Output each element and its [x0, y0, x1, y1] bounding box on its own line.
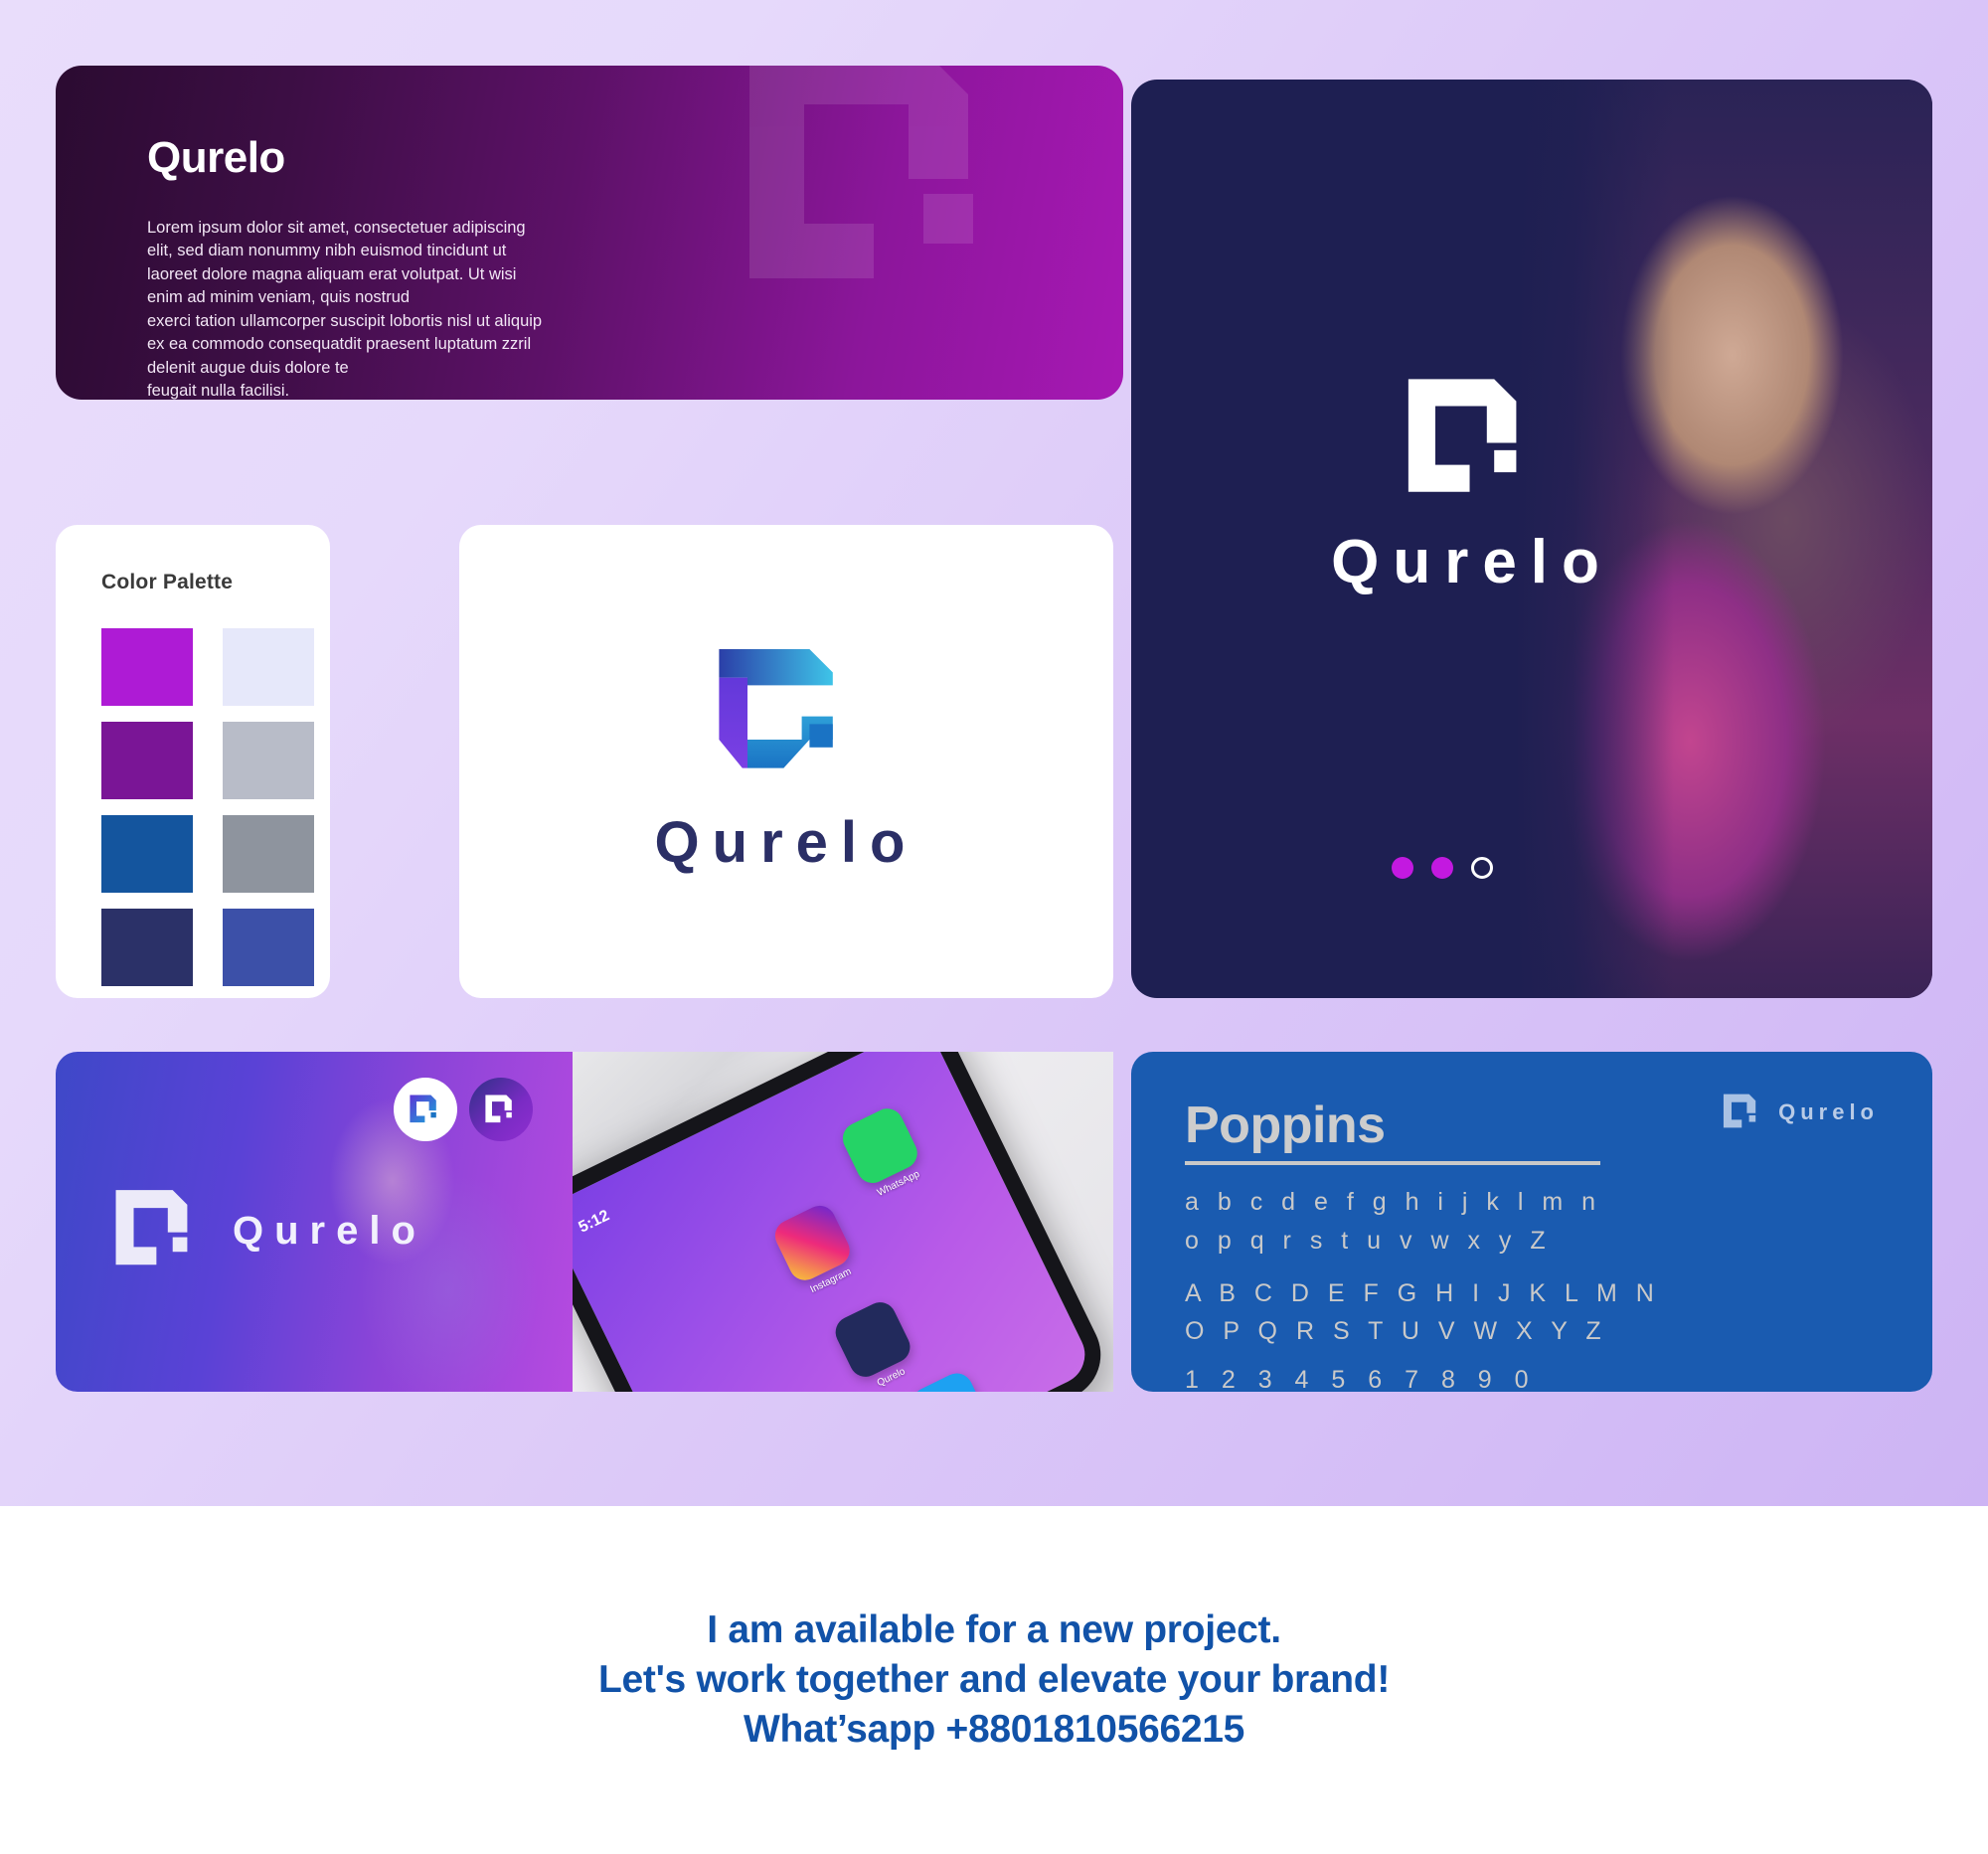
- qurelo-logo-watermark-icon: [730, 66, 1028, 298]
- typography-wordmark: Qurelo: [1778, 1099, 1879, 1125]
- typography-logo-lockup: Qurelo: [1721, 1094, 1879, 1131]
- qurelo-logo-badge-white-icon: [483, 1095, 519, 1125]
- app-icon-instagram[interactable]: Instagram: [770, 1201, 863, 1300]
- hero-title: Qurelo: [147, 133, 285, 183]
- cta-line-2: Let's work together and elevate your bra…: [598, 1658, 1390, 1702]
- color-swatch-slate-blue[interactable]: [223, 909, 314, 986]
- qurelo-logo-mark-tint-icon: [1721, 1094, 1764, 1131]
- logo-badge-light[interactable]: [394, 1078, 457, 1141]
- model-wordmark: Qurelo: [1331, 527, 1613, 597]
- hero-card: Qurelo Lorem ipsum dolor sit amet, conse…: [56, 66, 1123, 400]
- color-swatch-royal-blue[interactable]: [101, 815, 193, 893]
- logo-badges: [394, 1078, 533, 1141]
- logo-wordmark: Qurelo: [655, 809, 918, 876]
- social-wordmark: Qurelo: [233, 1209, 426, 1254]
- color-palette-card: Color Palette: [56, 525, 330, 998]
- typography-divider: [1185, 1161, 1600, 1165]
- app-icon-twitter[interactable]: Twitter: [907, 1368, 999, 1392]
- qurelo-logo-badge-gradient-icon: [408, 1095, 443, 1125]
- social-banner-card: Qurelo: [56, 1052, 573, 1392]
- cta-line-1: I am available for a new project.: [707, 1608, 1280, 1652]
- carousel-dots[interactable]: [1131, 857, 1932, 879]
- uppercase-row-2: O P Q R S T U V W X Y Z: [1185, 1312, 1879, 1351]
- color-swatch-navy-indigo[interactable]: [101, 909, 193, 986]
- social-logo-lockup: Qurelo: [109, 1189, 426, 1272]
- brand-board: Qurelo Lorem ipsum dolor sit amet, conse…: [0, 0, 1988, 1506]
- cta-line-3-whatsapp[interactable]: What’sapp +8801810566215: [744, 1708, 1244, 1752]
- phone-mockup-card: 5:12 WhatsApp Instagram Qurelo Facebook …: [573, 1052, 1113, 1392]
- color-swatch-pale-lavender[interactable]: [223, 628, 314, 706]
- typography-card: Poppins a b c d e f g h i j k l m n o p …: [1131, 1052, 1932, 1392]
- carousel-dot-1[interactable]: [1392, 857, 1413, 879]
- qurelo-logo-mark-white-icon: [1399, 378, 1546, 503]
- phone-status-time: 5:12: [577, 1207, 613, 1237]
- color-swatch-mid-gray[interactable]: [223, 815, 314, 893]
- lowercase-row-2: o p q r s t u v w x y Z: [1185, 1222, 1879, 1261]
- app-icon-whatsapp[interactable]: WhatsApp: [838, 1103, 930, 1203]
- hero-description: Lorem ipsum dolor sit amet, consectetuer…: [147, 217, 614, 400]
- qurelo-logo-mark-pale-icon: [109, 1189, 207, 1272]
- logo-badge-gradient[interactable]: [469, 1078, 533, 1141]
- uppercase-row-1: A B C D E F G H I J K L M N: [1185, 1274, 1879, 1313]
- qurelo-logo-mark-icon: [709, 648, 864, 779]
- color-swatch-deep-purple[interactable]: [101, 722, 193, 799]
- numerals-row: 1 2 3 4 5 6 7 8 9 0: [1185, 1361, 1879, 1400]
- color-swatch-light-gray[interactable]: [223, 722, 314, 799]
- lowercase-row-1: a b c d e f g h i j k l m n: [1185, 1183, 1879, 1222]
- logo-card: Qurelo: [459, 525, 1113, 998]
- app-icon-qurelo[interactable]: Qurelo: [830, 1297, 922, 1392]
- carousel-dot-2[interactable]: [1431, 857, 1453, 879]
- model-showcase-card: Qurelo: [1131, 80, 1932, 998]
- cta-footer: I am available for a new project. Let's …: [0, 1506, 1988, 1854]
- model-logo-lockup: Qurelo: [1131, 378, 1932, 597]
- color-swatch-bright-magenta[interactable]: [101, 628, 193, 706]
- carousel-dot-3[interactable]: [1471, 857, 1493, 879]
- swatch-grid: [101, 628, 330, 986]
- phone-screen: 5:12 WhatsApp Instagram Qurelo Facebook …: [573, 1052, 1113, 1392]
- palette-title: Color Palette: [101, 571, 330, 594]
